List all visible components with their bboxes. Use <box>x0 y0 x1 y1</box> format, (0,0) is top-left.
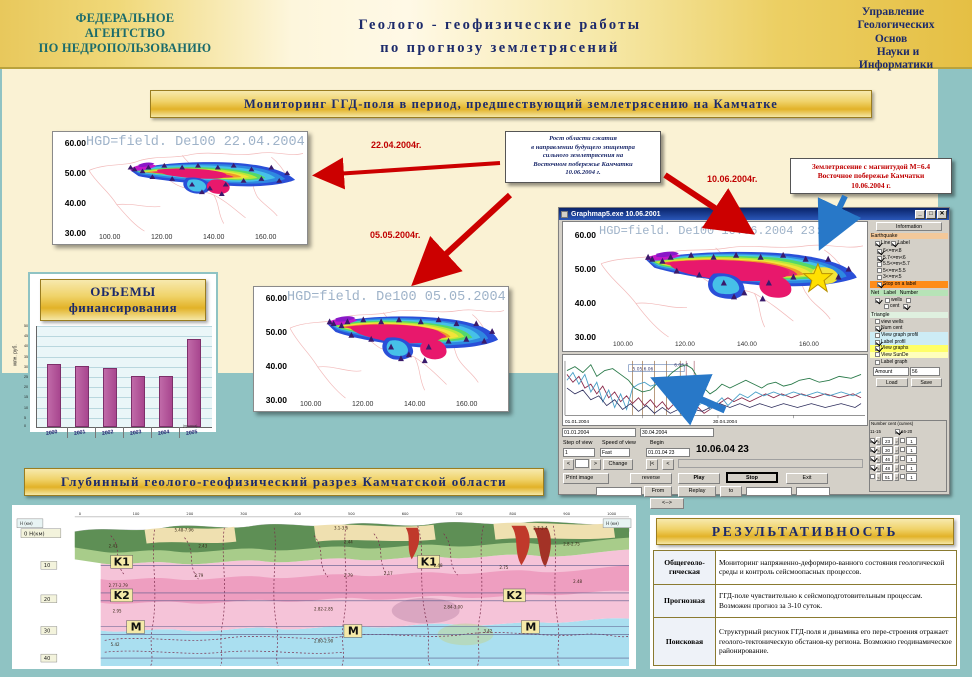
current-date-display: 10.06.04 23 <box>696 444 749 455</box>
svg-text:30: 30 <box>44 628 50 634</box>
callout-earthquake-magnitude: Землетрясение с магнитудой М=6.4 Восточн… <box>790 158 952 194</box>
department-line-5: Информатики <box>810 59 972 72</box>
svg-text:1000: 1000 <box>607 512 617 516</box>
svg-text:M: M <box>348 624 359 637</box>
label-checkbox[interactable] <box>891 241 896 246</box>
reverse-button[interactable]: reverse <box>630 473 672 484</box>
exit-button[interactable]: Exit <box>786 473 828 484</box>
svg-text:900: 900 <box>563 512 571 516</box>
svg-text:200: 200 <box>186 512 194 516</box>
department-name: Управление Геологических Основ Науки и И… <box>810 6 972 72</box>
row1-value[interactable]: 30 <box>882 446 893 454</box>
step-slider[interactable] <box>575 459 589 468</box>
row0-value[interactable]: 23 <box>882 437 893 445</box>
svg-text:500: 500 <box>348 512 356 516</box>
svg-text:2.79: 2.79 <box>194 573 203 578</box>
agency-name: ФЕДЕРАЛЬНОЕ АГЕНТСТВО ПО НЕДРОПОЛЬЗОВАНИ… <box>10 11 240 56</box>
svg-text:3.42: 3.42 <box>483 628 492 633</box>
table-row[interactable]: < 23 > 1 <box>870 436 946 445</box>
svg-text:2.84-3.00: 2.84-3.00 <box>444 605 464 610</box>
xlabel-2003: 2003 <box>130 429 142 437</box>
timeline-slider[interactable] <box>678 459 863 468</box>
map3-xtick-3: 160.00 <box>799 341 819 348</box>
svg-text:2.44: 2.44 <box>344 540 353 545</box>
row2-inc-button[interactable]: > <box>894 455 899 463</box>
load-save-row: Load Save <box>870 376 948 389</box>
rewind-button[interactable]: |< <box>646 459 658 470</box>
change-button[interactable]: Change <box>603 459 633 470</box>
stop-button[interactable]: Stop <box>726 472 778 483</box>
financing-banner: ОБЪЕМЫ финансирования <box>40 279 206 321</box>
view-sunde-label: View SunDe <box>881 352 908 358</box>
cross-section-banner: Глубинный геолого-геофизический разрез К… <box>24 468 544 496</box>
svg-text:2.48: 2.48 <box>434 563 443 568</box>
curves-number-table[interactable]: Number cent (curves) 11-15 16-20 < 23 > … <box>869 420 947 492</box>
net-checkbox[interactable] <box>875 298 880 303</box>
row2-checkbox-2[interactable] <box>900 456 905 461</box>
svg-text:3.1-3.6: 3.1-3.6 <box>334 526 349 531</box>
map1-xtick-0: 100.00 <box>99 234 120 241</box>
triangle-group: Triangle view wells Num cent View graph … <box>870 312 948 389</box>
financing-bar-chart: млн. руб. 50 45 40 35 30 25 20 15 10 5 0… <box>36 326 212 428</box>
curves-col2-label: 16-20 <box>901 429 912 434</box>
xlabel-2005: 2005 <box>186 429 198 437</box>
step-of-view-label: Step of view <box>563 440 592 446</box>
map1-xtick-3: 160.00 <box>255 234 276 241</box>
result-key-0: Общегеоло- гическая <box>654 551 716 585</box>
svg-text:5.42: 5.42 <box>111 642 120 647</box>
result-key-2: Поисковая <box>654 618 716 666</box>
row1-checkbox-2[interactable] <box>900 447 905 452</box>
graph-marker-1-label: 5.05.6.06 <box>633 367 654 373</box>
num-cent-checkbox[interactable] <box>875 326 880 331</box>
agency-line-3: ПО НЕДРОПОЛЬЗОВАНИЮ <box>10 41 240 56</box>
row0-value-2[interactable]: 1 <box>906 437 917 445</box>
svg-text:300: 300 <box>240 512 248 516</box>
row4-checkbox[interactable] <box>870 474 875 479</box>
window-title: Graphmap5.exe 10.06.2001 <box>571 211 661 218</box>
callout-compression-growth: Рост области сжатия в направлении будуще… <box>505 131 661 183</box>
map3-canvas <box>599 234 865 339</box>
magnitude-filter-2-checkbox[interactable] <box>877 262 882 267</box>
label-profil-checkbox[interactable] <box>875 340 880 345</box>
window-titlebar[interactable]: Graphmap5.exe 10.06.2001 _ □ ✕ <box>559 208 949 220</box>
page-title: Геолого - геофизические работы по прогно… <box>290 14 710 60</box>
window-buttons: _ □ ✕ <box>915 210 947 219</box>
stop-on-label-row[interactable]: Stop on a label <box>870 281 948 287</box>
bar-2002 <box>103 368 117 427</box>
replay-button[interactable]: Replay <box>678 486 716 497</box>
svg-text:2.80-2.90: 2.80-2.90 <box>314 638 334 643</box>
stop-on-label-checkbox[interactable] <box>877 282 882 287</box>
map3-xtick-1: 120.00 <box>675 341 695 348</box>
svg-text:H (км): H (км) <box>20 521 33 526</box>
map2-ytick-2: 40.00 <box>266 361 287 371</box>
prev-button[interactable]: < <box>662 459 674 470</box>
magnitude-filter-3-checkbox[interactable] <box>877 268 882 273</box>
num-cent-label: Num cent <box>881 325 902 331</box>
label-col-label: Label <box>884 290 897 296</box>
svg-text:2.17: 2.17 <box>384 571 393 576</box>
begin-label: Begin <box>650 440 664 446</box>
map2-ytick-0: 60.00 <box>266 293 287 303</box>
xlabel-2002: 2002 <box>102 429 114 437</box>
svg-text:H (км): H (км) <box>606 521 619 526</box>
wells-number-checkbox[interactable] <box>906 298 911 303</box>
map1-y-axis: 60.00 50.00 40.00 30.00 <box>55 132 89 244</box>
view-graph-profil-checkbox[interactable] <box>875 333 880 338</box>
map1-canvas <box>87 142 305 233</box>
table-row[interactable]: < 46 > 1 <box>870 454 946 463</box>
svg-text:2.95: 2.95 <box>113 609 122 614</box>
row0-inc-button[interactable]: > <box>894 437 899 445</box>
row2-checkbox[interactable] <box>870 456 875 461</box>
department-line-4: Науки и <box>810 46 972 59</box>
map3-ytick-2: 40.00 <box>575 298 596 308</box>
map3-xtick-0: 100.00 <box>613 341 633 348</box>
row1-inc-button[interactable]: > <box>894 446 899 454</box>
magnitude-filter-0-checkbox[interactable] <box>877 249 882 254</box>
date-label-10-06-2004: 10.06.2004г. <box>707 174 757 184</box>
magnitude-filter-1-checkbox[interactable] <box>877 256 882 261</box>
row4-value-2[interactable]: 1 <box>906 473 917 481</box>
graphmap-application-window[interactable]: Graphmap5.exe 10.06.2001 _ □ ✕ HGD=field… <box>558 207 950 495</box>
monitoring-banner: Мониторинг ГГД-поля в период, предшеству… <box>150 90 872 118</box>
ggd-field-map-2004-05-05: HGD=field. De100 05.05.2004 23:00 60.00 … <box>253 286 509 412</box>
graph-marker-2-label: 6.06.4 <box>674 363 688 369</box>
app-icon <box>561 211 568 218</box>
svg-text:800: 800 <box>509 512 517 516</box>
triangle-item-6[interactable]: Label graph <box>870 359 948 365</box>
svg-text:0 H(км): 0 H(км) <box>24 532 45 538</box>
map1-ytick-1: 50.00 <box>65 168 86 178</box>
map3-ytick-3: 30.00 <box>575 332 596 342</box>
row3-checkbox[interactable] <box>870 465 875 470</box>
row1-checkbox[interactable] <box>870 447 875 452</box>
map2-ytick-1: 50.00 <box>266 327 287 337</box>
svg-text:700: 700 <box>456 512 464 516</box>
result-text-0: Мониторинг напряженно-деформиро-ванного … <box>716 551 957 585</box>
svg-text:100: 100 <box>133 512 141 516</box>
end-value-field[interactable] <box>796 487 830 496</box>
close-icon[interactable]: ✕ <box>937 210 947 219</box>
map3-xtick-2: 140.00 <box>737 341 757 348</box>
map2-xtick-1: 120.00 <box>352 401 373 408</box>
financing-y-axis-label: млн. руб. <box>13 344 19 365</box>
results-table: Общегеоло- гическая Мониторинг напряженн… <box>653 550 957 666</box>
page-header: ФЕДЕРАЛЬНОЕ АГЕНТСТВО ПО НЕДРОПОЛЬЗОВАНИ… <box>0 0 972 69</box>
result-key-1: Прогнозная <box>654 584 716 618</box>
magnitude-filter-4-label: 3<=m<5 <box>883 274 902 280</box>
row2-value-2[interactable]: 1 <box>906 455 917 463</box>
cross-section-panel: 0100200 300400500 600700800 9001000 0 H(… <box>10 503 638 671</box>
view-wells-checkbox[interactable] <box>875 319 880 324</box>
curves-col2-checkbox[interactable] <box>895 429 900 434</box>
svg-text:400: 400 <box>294 512 302 516</box>
speed-value-field[interactable]: Fast <box>600 448 630 457</box>
row3-checkbox-2[interactable] <box>900 465 905 470</box>
cent-number-checkbox[interactable] <box>903 304 908 309</box>
earthquake-group: Earthquake Line Label 6<=m<8 5.7<=m<6 <box>870 233 948 288</box>
xlabel-2005-note: (прогноз) <box>183 424 197 428</box>
svg-text:2.82-2.85: 2.82-2.85 <box>314 607 334 612</box>
stop-on-label-text: Stop on a label <box>883 281 916 287</box>
row0-checkbox[interactable] <box>870 438 875 443</box>
svg-text:20: 20 <box>44 597 50 603</box>
page-title-line-1: Геолого - геофизические работы <box>290 14 710 37</box>
svg-text:M: M <box>131 620 142 633</box>
svg-text:40: 40 <box>44 656 50 662</box>
row2-value[interactable]: 46 <box>882 455 893 463</box>
map2-y-axis: 60.00 50.00 40.00 30.00 <box>256 287 290 411</box>
financing-banner-line-1: ОБЪЕМЫ <box>90 284 155 300</box>
row4-checkbox-2[interactable] <box>900 474 905 479</box>
magnitude-filter-4-checkbox[interactable] <box>877 275 882 280</box>
financing-banner-line-2: финансирования <box>69 300 178 316</box>
date-label-22-04-2004: 22.04.2004г. <box>371 140 421 150</box>
map1-ytick-0: 60.00 <box>65 138 86 148</box>
amount-label: Amount <box>873 367 909 376</box>
result-text-2: Структурный рисунок ГГД-поля и динамика … <box>716 618 957 666</box>
earthquake-line-label-row: Line Label <box>870 240 948 246</box>
row3-inc-button[interactable]: > <box>894 464 899 472</box>
curves-col1-label: 11-15 <box>870 429 894 434</box>
window-body: HGD=field. De100 10.06.2004 23:00 60.00 … <box>559 220 949 494</box>
bar-2001 <box>75 366 89 427</box>
view-sunde-checkbox[interactable] <box>875 352 880 357</box>
net-group-header: Net Label Number <box>870 290 948 296</box>
bar-2000 <box>47 364 61 427</box>
map1-x-axis: 100.00 120.00 140.00 160.00 <box>87 234 305 243</box>
map2-xtick-2: 140.00 <box>404 401 425 408</box>
svg-text:2.79: 2.79 <box>344 573 353 578</box>
from-value-field[interactable] <box>596 487 642 496</box>
svg-text:5.48-7.96: 5.48-7.96 <box>174 528 194 533</box>
graph-x-end: 30.04.2004 <box>713 420 737 425</box>
minimize-icon[interactable]: _ <box>915 210 925 219</box>
bar-2005 <box>187 339 201 427</box>
agency-line-1: ФЕДЕРАЛЬНОЕ <box>10 11 240 26</box>
amount-value[interactable]: 56 <box>910 367 940 376</box>
to-value-field[interactable] <box>746 487 792 496</box>
department-line-2: Геологических <box>810 19 972 32</box>
step-value-field[interactable]: 1 <box>563 448 595 457</box>
svg-text:K2: K2 <box>506 589 522 602</box>
row0-checkbox-2[interactable] <box>900 438 905 443</box>
label-graph-label: Label graph <box>881 359 907 365</box>
play-button[interactable]: Play <box>678 473 720 484</box>
row4-dec-button[interactable]: < <box>876 473 881 481</box>
map2-canvas <box>288 297 506 400</box>
ggd-field-map-2004-06-10[interactable]: HGD=field. De100 10.06.2004 23:00 60.00 … <box>562 221 868 352</box>
load-button[interactable]: Load <box>876 378 908 387</box>
map3-ytick-0: 60.00 <box>575 230 596 240</box>
svg-text:2.7-3.4: 2.7-3.4 <box>533 526 548 531</box>
triangle-group-header: Triangle <box>870 312 948 318</box>
net-group: Net Label Number wells cent <box>870 290 948 310</box>
results-banner: РЕЗУЛЬТАТИВНОСТЬ <box>656 518 954 545</box>
de-field-timeseries-graph[interactable]: 5.05.6.06 6.06.4 01.01.2004 30.04.2004 <box>562 354 868 426</box>
speed-of-view-label: Speed of view <box>602 440 636 446</box>
save-button[interactable]: Save <box>911 378 943 387</box>
svg-text:600: 600 <box>402 512 410 516</box>
triangle-item-1[interactable]: Num cent <box>870 325 948 331</box>
from-button[interactable]: From <box>644 486 672 497</box>
maximize-icon[interactable]: □ <box>926 210 936 219</box>
cent-label-checkbox[interactable] <box>884 304 889 309</box>
ggd-field-map-2004-04-22: HGD=field. De100 22.04.2004 23:00 60.00 … <box>52 131 308 245</box>
xlabel-2000: 2000 <box>46 429 58 437</box>
map2-x-axis: 100.00 120.00 140.00 160.00 <box>288 401 506 410</box>
result-text-1: ГГД-поле чувствительно к сейсмоподготови… <box>716 584 957 618</box>
svg-text:K2: K2 <box>114 589 130 602</box>
line-checkbox[interactable] <box>875 241 880 246</box>
svg-text:2.43: 2.43 <box>198 544 207 549</box>
cent-label: cent <box>890 303 899 309</box>
bar-2004 <box>159 376 173 427</box>
row4-value[interactable]: 51 <box>882 473 893 481</box>
svg-text:2.43: 2.43 <box>109 544 118 549</box>
callout-earthquake-text: Землетрясение с магнитудой М=6.4 Восточн… <box>812 162 930 190</box>
table-row[interactable]: < 48 > 1 <box>870 463 946 472</box>
cross-section-image: 0100200 300400500 600700800 9001000 0 H(… <box>15 508 633 666</box>
svg-text:2.48: 2.48 <box>573 579 582 584</box>
wells-label-checkbox[interactable] <box>885 298 890 303</box>
map3-x-axis: 100.00 120.00 140.00 160.00 <box>599 341 865 350</box>
label-label: Label <box>897 240 909 246</box>
step-decrement-button[interactable]: < <box>563 459 574 470</box>
print-image-button[interactable]: Print image <box>563 473 609 484</box>
begin-value-field[interactable]: 01.01.04 23 <box>646 448 690 457</box>
row3-value-2[interactable]: 1 <box>906 464 917 472</box>
map2-ytick-3: 30.00 <box>266 395 287 405</box>
table-row[interactable]: < 30 > 1 <box>870 445 946 454</box>
department-line-3: Основ <box>810 33 972 46</box>
label-graph-checkbox[interactable] <box>875 360 880 365</box>
map2-xtick-3: 160.00 <box>456 401 477 408</box>
information-button[interactable]: Information <box>876 222 942 231</box>
table-row: Прогнозная ГГД-поле чувствительно к сейс… <box>654 584 957 618</box>
number-col-label: Number <box>900 290 918 296</box>
magnitude-filter-4[interactable]: 3<=m<5 <box>870 274 948 280</box>
map1-xtick-1: 120.00 <box>151 234 172 241</box>
graph-x-start: 01.01.2004 <box>565 420 589 425</box>
bar-2003 <box>131 376 145 427</box>
callout-compression-growth-text: Рост области сжатия в направлении будуще… <box>531 135 635 176</box>
curves-col-headers: 11-15 16-20 <box>870 427 946 436</box>
svg-text:K1: K1 <box>114 555 130 568</box>
agency-line-2: АГЕНТСТВО <box>10 26 240 41</box>
svg-text:2.8-2.75: 2.8-2.75 <box>563 542 580 547</box>
svg-text:10: 10 <box>44 563 50 569</box>
page-title-line-2: по прогнозу землетрясений <box>290 37 710 60</box>
map3-y-axis: 60.00 50.00 40.00 30.00 <box>565 222 599 351</box>
map2-xtick-0: 100.00 <box>300 401 321 408</box>
xlabel-2004: 2004 <box>158 429 170 437</box>
date-label-05-05-2004: 05.05.2004г. <box>370 230 420 240</box>
earthquake-group-header: Earthquake <box>870 233 948 239</box>
table-row: Общегеоло- гическая Мониторинг напряженн… <box>654 551 957 585</box>
to-button[interactable]: to <box>720 486 742 497</box>
row1-value-2[interactable]: 1 <box>906 446 917 454</box>
map1-xtick-2: 140.00 <box>203 234 224 241</box>
swap-range-button[interactable]: <--> <box>650 498 684 509</box>
table-row[interactable]: < 51 > 1 <box>870 472 946 481</box>
net-col-label: Net <box>871 290 879 296</box>
table-row: Поисковая Структурный рисунок ГГД-поля и… <box>654 618 957 666</box>
triangle-item-5[interactable]: View SunDe <box>870 352 948 358</box>
map3-ytick-1: 50.00 <box>575 264 596 274</box>
map1-ytick-2: 40.00 <box>65 198 86 208</box>
map1-ytick-3: 30.00 <box>65 228 86 238</box>
net-cent-row[interactable]: cent <box>870 303 948 309</box>
svg-text:2.77-2.79: 2.77-2.79 <box>109 583 129 588</box>
step-increment-button[interactable]: > <box>590 459 601 470</box>
date-start-field[interactable]: 01.01.2004 <box>562 428 636 437</box>
svg-text:M: M <box>525 620 536 633</box>
view-graphs-checkbox[interactable] <box>875 346 880 351</box>
svg-text:2.75: 2.75 <box>499 565 508 570</box>
department-line-1: Управление <box>810 6 972 19</box>
row3-value[interactable]: 48 <box>882 464 893 472</box>
xlabel-2001: 2001 <box>74 429 86 437</box>
date-end-field[interactable]: 30.04.2004 <box>640 428 714 437</box>
amount-row: Amount 56 <box>870 367 948 376</box>
row4-inc-button[interactable]: > <box>894 473 899 481</box>
playback-controls: 01.01.2004 30.04.2004 Step of view Speed… <box>562 428 868 492</box>
